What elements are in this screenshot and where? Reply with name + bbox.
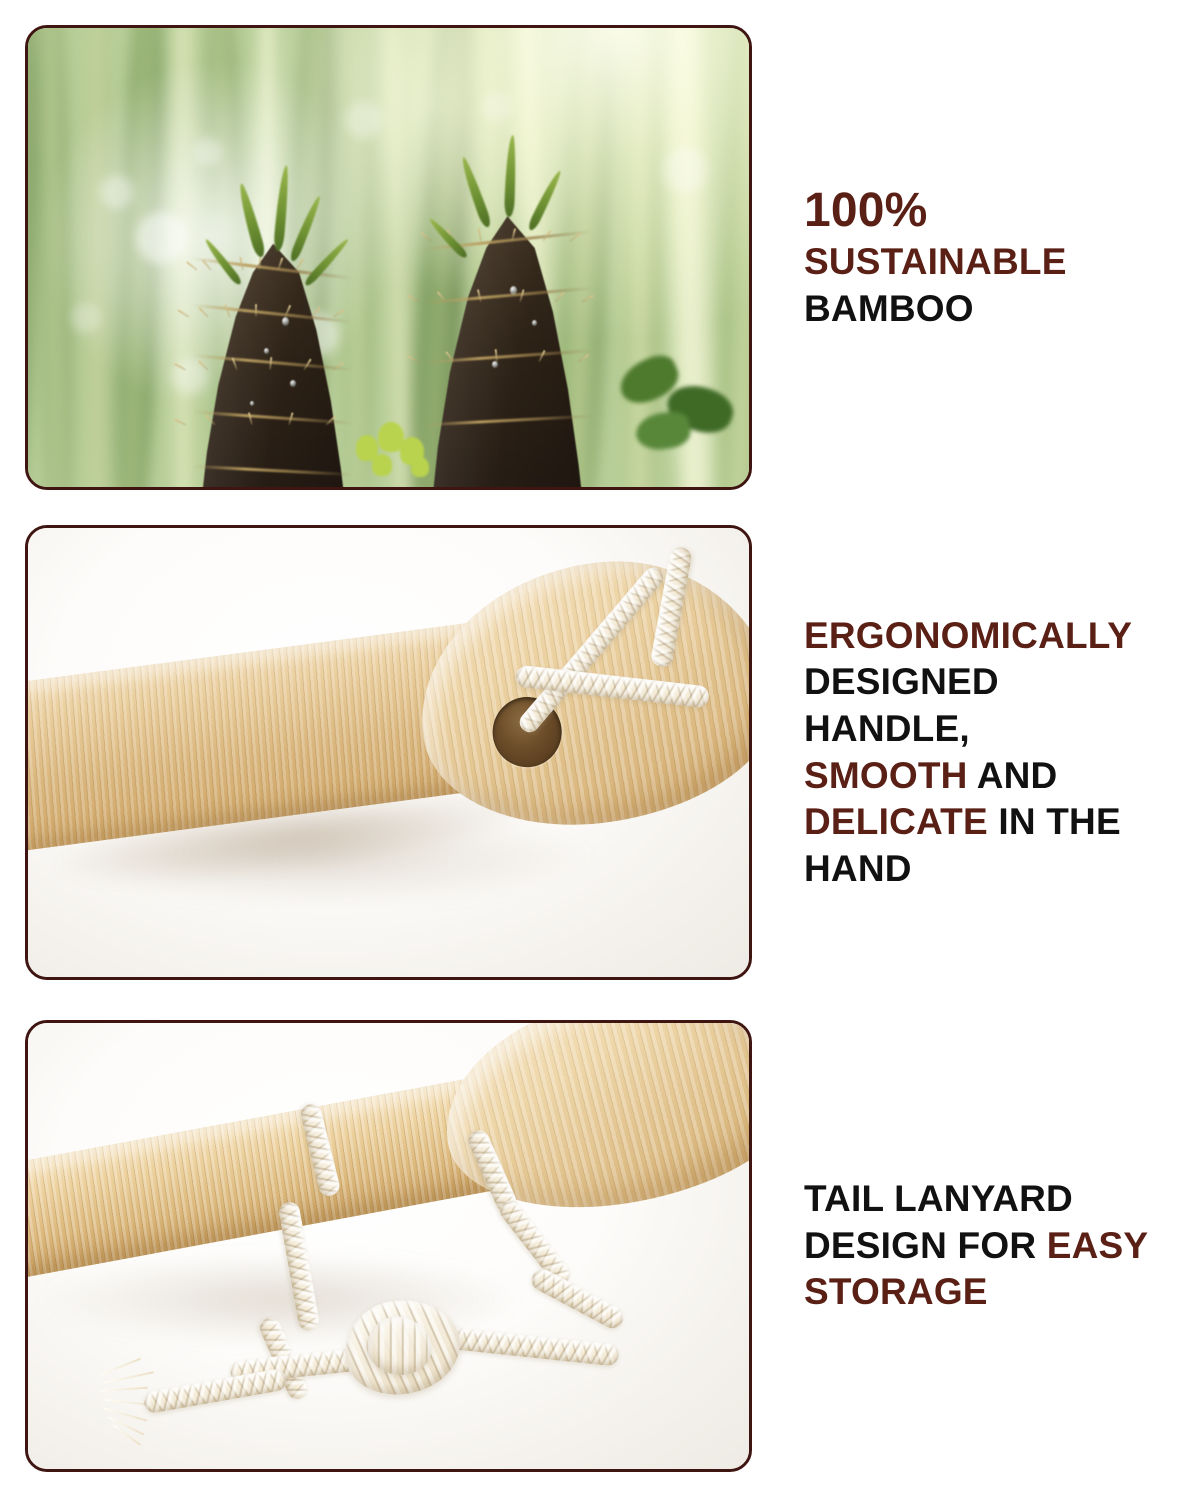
headline-line: DESIGN FOR [804,1225,1047,1266]
headline-ergonomic-handle: ERGONOMICALLY DESIGNED HANDLE, SMOOTH AN… [804,613,1175,893]
blurred-leaf-cluster [619,349,749,459]
headline-line: STORAGE [804,1271,988,1312]
bamboo-forest-photo [28,28,749,487]
feature-row-tail-lanyard: TAIL LANYARD DESIGN FOR EASY STORAGE [25,1020,1175,1472]
headline-line: AND [968,755,1058,796]
feature-row-ergonomic-handle: ERGONOMICALLY DESIGNED HANDLE, SMOOTH AN… [25,525,1175,980]
bamboo-shoot-left [201,244,345,487]
bamboo-handle-closeup-photo [28,528,749,977]
green-sprig [345,414,455,484]
headline-line: TAIL LANYARD [804,1178,1073,1219]
feature-row-sustainable-bamboo: 100% SUSTAINABLE BAMBOO [25,25,1175,490]
bamboo-handle [28,535,749,907]
panel-bamboo-handle [25,525,752,980]
panel-bamboo-forest [25,25,752,490]
headline-line: SUSTAINABLE [804,241,1067,282]
handle-rounded-end [427,1023,749,1234]
headline-line: ERGONOMICALLY [804,615,1132,656]
headline-line: IN THE [988,801,1121,842]
headline-line: 100% [804,183,1164,240]
infographic-page: 100% SUSTAINABLE BAMBOO [0,0,1200,1500]
headline-line: BAMBOO [804,288,974,329]
headline-line: DESIGNED HANDLE, [804,661,999,749]
headline-line: DELICATE [804,801,988,842]
cotton-lanyard-strand [527,1265,627,1332]
headline-sustainable-bamboo: 100% SUSTAINABLE BAMBOO [804,183,1164,333]
panel-lanyard [25,1020,752,1472]
headline-line: EASY [1047,1225,1149,1266]
headline-tail-lanyard: TAIL LANYARD DESIGN FOR EASY STORAGE [804,1176,1175,1316]
headline-line: SMOOTH [804,755,968,796]
bamboo-handle-lanyard-photo [28,1023,749,1469]
headline-line: HAND [804,848,912,889]
